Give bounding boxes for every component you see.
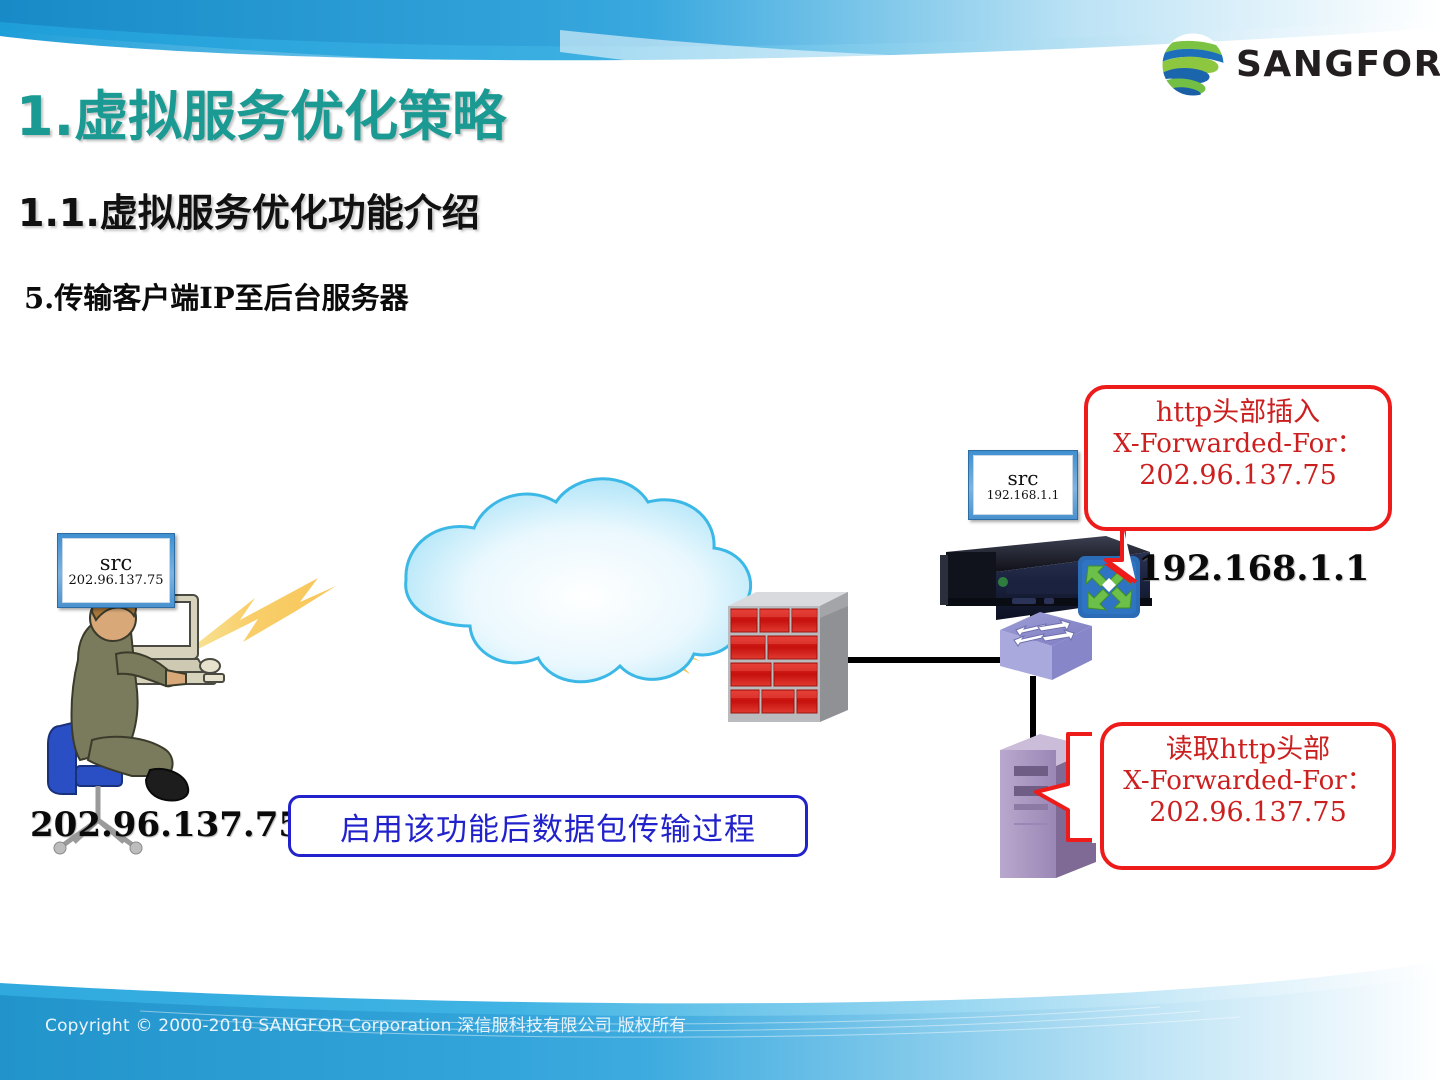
packet-box-client: src 202.96.137.75 bbox=[57, 533, 175, 608]
page-subtitle: 1.1.虚拟服务优化功能介绍 bbox=[18, 182, 480, 237]
brand-logo: SANGFOR bbox=[1160, 25, 1410, 105]
callout-bottom-line-3: 202.96.137.75 bbox=[1118, 797, 1378, 829]
callout-http-header-read: 读取http头部 X-Forwarded-For： 202.96.137.75 bbox=[1100, 722, 1396, 870]
packet-box-client-title: src bbox=[100, 552, 133, 574]
section-item: 5.传输客户端IP至后台服务器 bbox=[24, 275, 409, 317]
callout-bottom-line-2: X-Forwarded-For： bbox=[1118, 766, 1378, 797]
client-ip-label: 202.96.137.75 bbox=[30, 805, 302, 845]
packet-box-appliance-value: 192.168.1.1 bbox=[987, 489, 1060, 502]
lightning-bolt-icon-left bbox=[176, 578, 336, 660]
callout-top-line-3: 202.96.137.75 bbox=[1102, 460, 1374, 492]
callout-http-header-insert: http头部插入 X-Forwarded-For： 202.96.137.75 bbox=[1084, 385, 1392, 531]
network-switch-icon bbox=[1000, 612, 1092, 680]
brick-firewall-icon bbox=[728, 592, 848, 722]
sangfor-globe-logo-icon bbox=[1160, 32, 1226, 98]
brand-name: SANGFOR bbox=[1236, 47, 1440, 83]
page-title: 1.虚拟服务优化策略 bbox=[16, 72, 506, 151]
packet-box-client-value: 202.96.137.75 bbox=[68, 574, 163, 588]
callout-top-line-1: http头部插入 bbox=[1102, 397, 1374, 429]
footer-copyright: Copyright © 2000-2010 SANGFOR Corporatio… bbox=[45, 1011, 686, 1036]
slide-canvas: SANGFOR 1.虚拟服务优化策略 1.1.虚拟服务优化功能介绍 5.传输客户… bbox=[0, 0, 1440, 1080]
appliance-ip-label: 192.168.1.1 bbox=[1138, 548, 1369, 589]
callout-top-line-2: X-Forwarded-For： bbox=[1102, 429, 1374, 460]
packet-box-appliance: src 192.168.1.1 bbox=[968, 450, 1078, 520]
diagram-caption-box: 启用该功能后数据包传输过程 bbox=[288, 795, 808, 857]
footer-banner: Copyright © 2000-2010 SANGFOR Corporatio… bbox=[0, 945, 1440, 1080]
internet-cloud-icon bbox=[406, 479, 751, 682]
packet-box-appliance-title: src bbox=[1007, 468, 1038, 489]
callout-bottom-line-1: 读取http头部 bbox=[1118, 734, 1378, 766]
diagram-caption-text: 启用该功能后数据包传输过程 bbox=[340, 804, 756, 849]
